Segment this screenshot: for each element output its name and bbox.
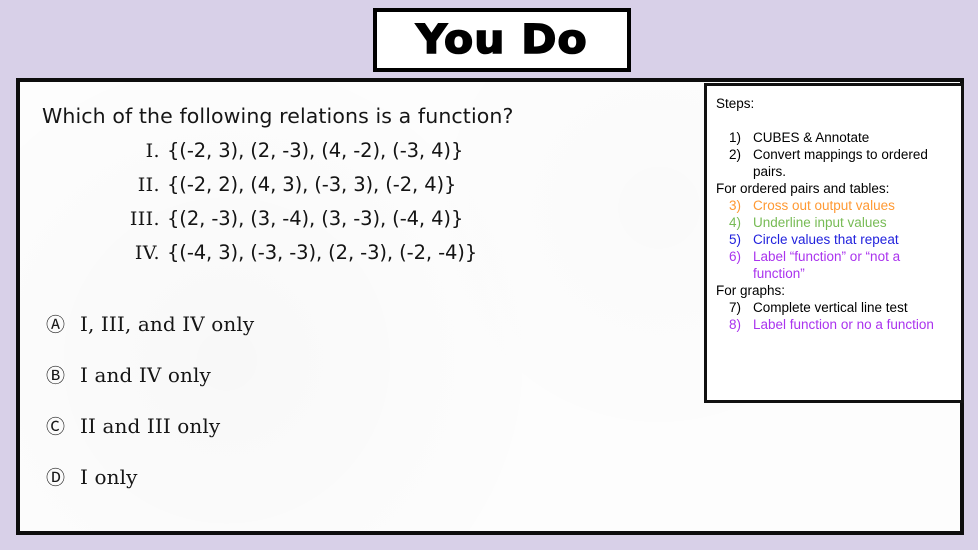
step-number: 3) — [715, 197, 753, 214]
steps-heading: Steps: — [716, 96, 955, 111]
step-item-7: 7) Complete vertical line test — [715, 299, 955, 316]
circled-letter-c-icon: Ⓒ — [46, 412, 80, 439]
circled-letter-b-icon: Ⓑ — [46, 361, 80, 388]
step-number: 1) — [715, 129, 753, 146]
circled-letter-d-icon: Ⓓ — [46, 463, 80, 490]
step-item-4: 4) Underline input values — [715, 214, 955, 231]
step-item-2: 2) Convert mappings to ordered pairs. — [715, 146, 955, 180]
step-text: Convert mappings to ordered pairs. — [753, 146, 955, 180]
question-area: Which of the following relations is a fu… — [20, 82, 710, 531]
relation-set: {(-4, 3), (-3, -3), (2, -3), (-2, -4)} — [167, 241, 477, 264]
steps-group-heading-graphs: For graphs: — [716, 282, 955, 299]
step-item-1: 1) CUBES & Annotate — [715, 129, 955, 146]
relations-list: I. {(-2, 3), (2, -3), (4, -2), (-3, 4)} … — [20, 139, 490, 275]
page-title: You Do — [416, 20, 588, 60]
question-stem: Which of the following relations is a fu… — [42, 104, 513, 128]
step-item-8: 8) Label function or no a function — [715, 316, 955, 333]
step-text: Complete vertical line test — [753, 299, 955, 316]
step-text: Circle values that repeat — [753, 231, 955, 248]
step-item-5: 5) Circle values that repeat — [715, 231, 955, 248]
answer-choice-b[interactable]: Ⓑ I and IV only — [46, 349, 466, 400]
step-number: 4) — [715, 214, 753, 231]
answer-choice-label: I only — [80, 465, 137, 489]
relation-set: {(2, -3), (3, -4), (3, -3), (-4, 4)} — [167, 207, 463, 230]
step-text: Label function or no a function — [753, 316, 955, 333]
relation-item: IV. {(-4, 3), (-3, -3), (2, -3), (-2, -4… — [20, 241, 490, 275]
step-text: Underline input values — [753, 214, 955, 231]
steps-group-heading-ordered-pairs: For ordered pairs and tables: — [716, 180, 955, 197]
step-text: Label “function” or “not a function” — [753, 248, 955, 282]
step-item-6: 6) Label “function” or “not a function” — [715, 248, 955, 282]
relation-numeral: III. — [20, 208, 167, 230]
answer-choice-c[interactable]: Ⓒ II and III only — [46, 400, 466, 451]
step-text: CUBES & Annotate — [753, 129, 955, 146]
circled-letter-a-icon: Ⓐ — [46, 310, 80, 337]
answer-choice-d[interactable]: Ⓓ I only — [46, 451, 466, 502]
step-number: 7) — [715, 299, 753, 316]
relation-item: I. {(-2, 3), (2, -3), (4, -2), (-3, 4)} — [20, 139, 490, 173]
relation-numeral: IV. — [20, 242, 167, 264]
answer-choice-a[interactable]: Ⓐ I, III, and IV only — [46, 298, 466, 349]
relation-item: III. {(2, -3), (3, -4), (3, -3), (-4, 4)… — [20, 207, 490, 241]
step-text: Cross out output values — [753, 197, 955, 214]
answer-choice-label: I and IV only — [80, 363, 211, 387]
relation-set: {(-2, 2), (4, 3), (-3, 3), (-2, 4)} — [167, 173, 456, 196]
step-number: 2) — [715, 146, 753, 163]
step-item-3: 3) Cross out output values — [715, 197, 955, 214]
relation-numeral: I. — [20, 140, 167, 162]
title-banner: You Do — [373, 8, 631, 72]
step-number: 5) — [715, 231, 753, 248]
steps-box: Steps: 1) CUBES & Annotate 2) Convert ma… — [704, 83, 964, 403]
worksheet-panel: Which of the following relations is a fu… — [16, 78, 964, 535]
answer-choices-list: Ⓐ I, III, and IV only Ⓑ I and IV only Ⓒ … — [46, 298, 466, 502]
relation-item: II. {(-2, 2), (4, 3), (-3, 3), (-2, 4)} — [20, 173, 490, 207]
relation-set: {(-2, 3), (2, -3), (4, -2), (-3, 4)} — [167, 139, 463, 162]
relation-numeral: II. — [20, 174, 167, 196]
answer-choice-label: I, III, and IV only — [80, 312, 254, 336]
answer-choice-label: II and III only — [80, 414, 220, 438]
step-number: 6) — [715, 248, 753, 265]
step-number: 8) — [715, 316, 753, 333]
